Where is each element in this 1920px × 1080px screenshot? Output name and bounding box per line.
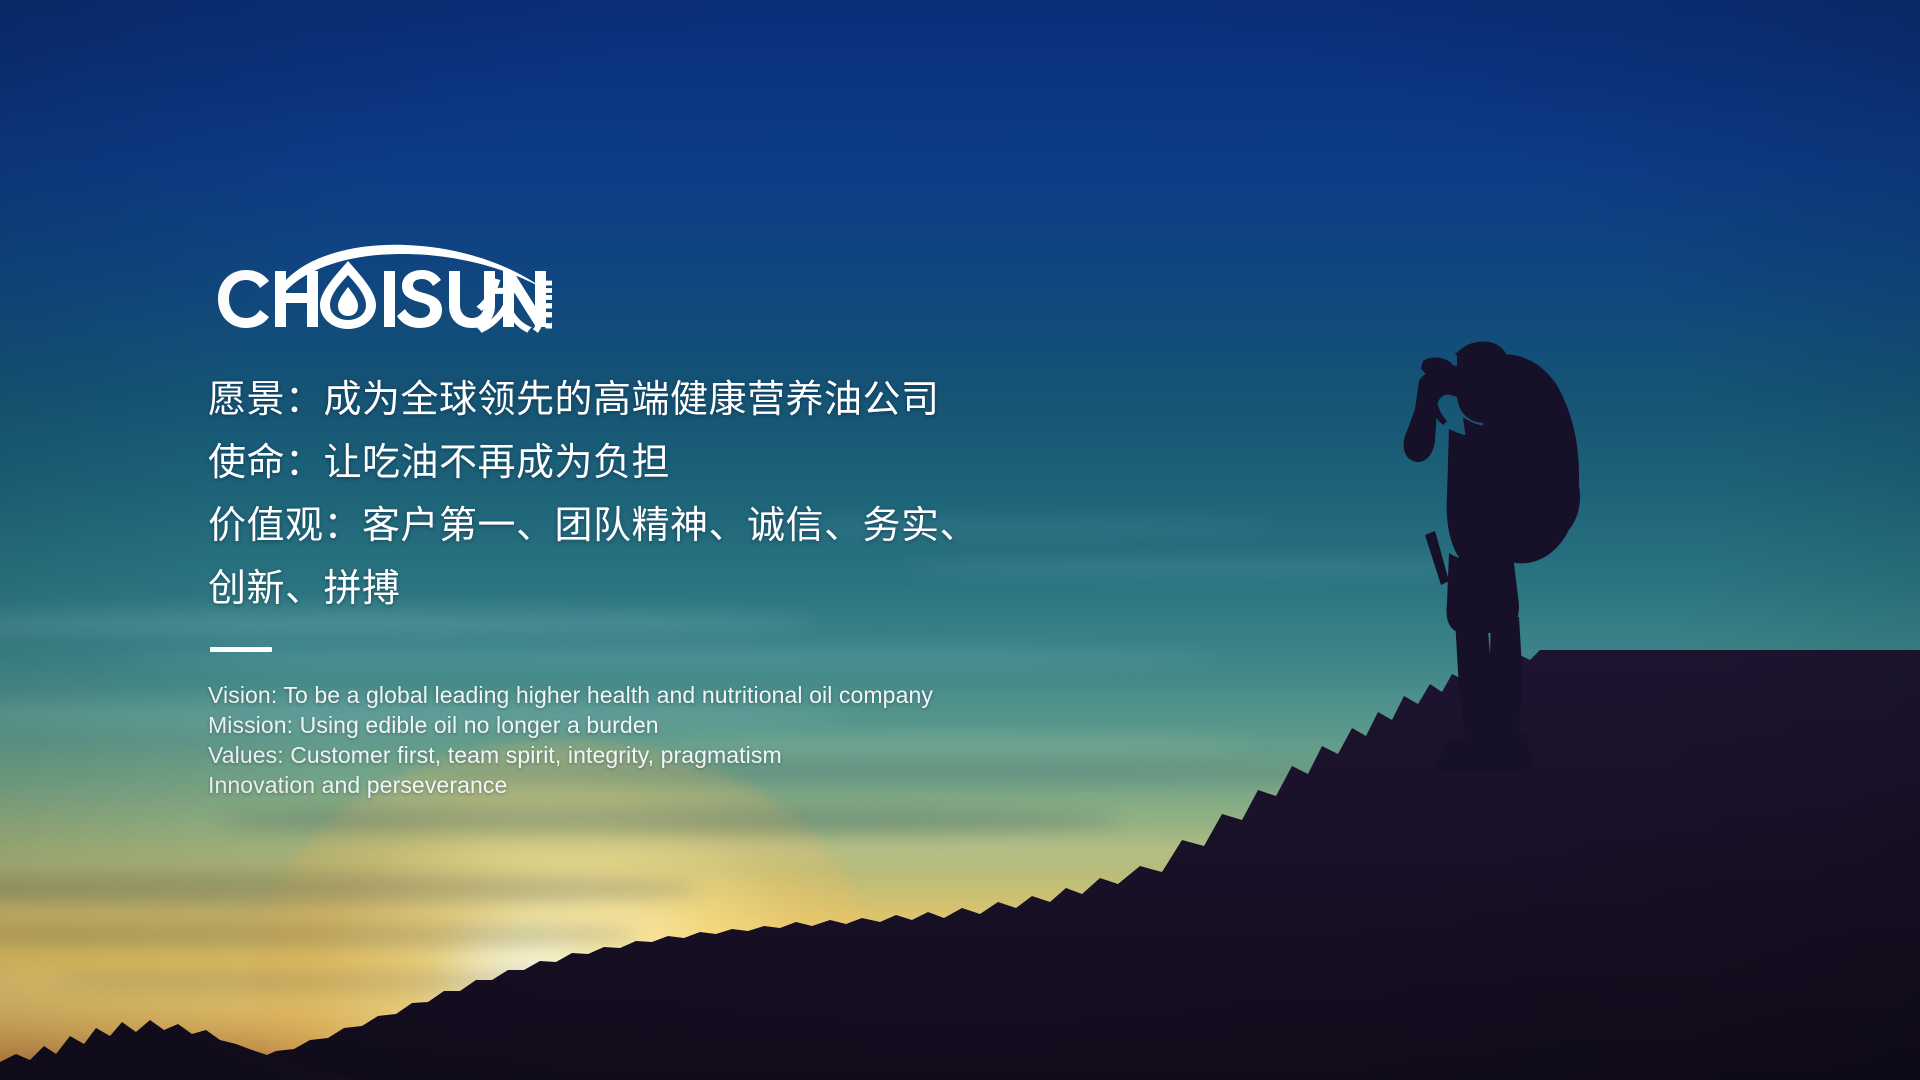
- english-statement: Vision: To be a global leading higher he…: [208, 680, 1248, 800]
- section-divider: [210, 647, 272, 652]
- hiker-silhouette: [1389, 337, 1599, 781]
- values-line-en: Values: Customer first, team spirit, int…: [208, 740, 1248, 770]
- values-line-cn-continued: 创新、拼搏: [208, 558, 1248, 621]
- content-block: 久晟 愿景：成为全球领先的高端健康营养油公司 使命：让吃油不再成为负担 价值观：…: [208, 243, 1248, 800]
- brand-logo[interactable]: 久晟: [208, 243, 552, 335]
- mission-line-en: Mission: Using edible oil no longer a bu…: [208, 710, 1248, 740]
- logo-chinese-characters: 久晟: [476, 276, 552, 335]
- vision-line-cn: 愿景：成为全球领先的高端健康营养油公司: [208, 369, 1248, 432]
- slide-canvas: 久晟 愿景：成为全球领先的高端健康营养油公司 使命：让吃油不再成为负担 价值观：…: [0, 0, 1920, 1080]
- values-line-cn: 价值观：客户第一、团队精神、诚信、务实、: [208, 495, 1248, 558]
- mission-line-cn: 使命：让吃油不再成为负担: [208, 432, 1248, 495]
- values-line-en-continued: Innovation and perseverance: [208, 770, 1248, 800]
- vision-line-en: Vision: To be a global leading higher he…: [208, 680, 1248, 710]
- chinese-statement: 愿景：成为全球领先的高端健康营养油公司 使命：让吃油不再成为负担 价值观：客户第…: [208, 369, 1248, 621]
